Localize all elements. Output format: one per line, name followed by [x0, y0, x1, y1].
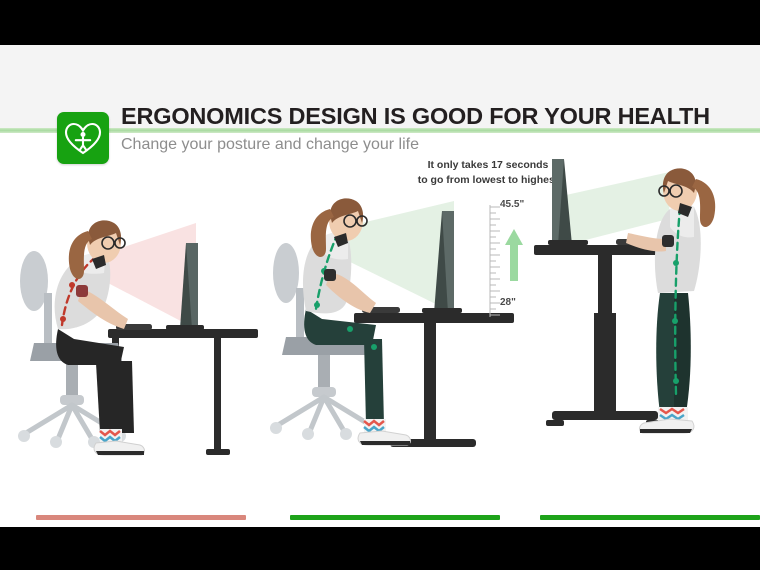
ruler-max-label: 45.5": [500, 199, 524, 210]
panel-seated-bad-posture: [0, 133, 258, 527]
panel-row: It only takes 17 seconds to go from lowe…: [0, 133, 760, 527]
illustration-woman-seated-upright: [258, 133, 524, 473]
slide-content: ERGONOMICS DESIGN IS GOOD FOR YOUR HEALT…: [0, 45, 760, 527]
panel-standing-good-posture: [524, 133, 760, 527]
letterbox-top-bar: [0, 0, 760, 45]
verdict-bar-good-standing: [540, 515, 760, 520]
page-title: ERGONOMICS DESIGN IS GOOD FOR YOUR HEALT…: [121, 104, 721, 130]
verdict-bar-bad: [36, 515, 246, 520]
panel-seated-good-posture: It only takes 17 seconds to go from lowe…: [258, 133, 524, 527]
verdict-bar-good-seated: [290, 515, 500, 520]
letterbox-bottom-bar: [0, 527, 760, 570]
illustration-woman-slouching: [0, 133, 258, 473]
slide-stage: ERGONOMICS DESIGN IS GOOD FOR YOUR HEALT…: [0, 0, 760, 570]
ruler-min-label: 28": [500, 297, 516, 308]
up-arrow-icon: [505, 229, 523, 281]
illustration-woman-standing: [524, 133, 760, 473]
